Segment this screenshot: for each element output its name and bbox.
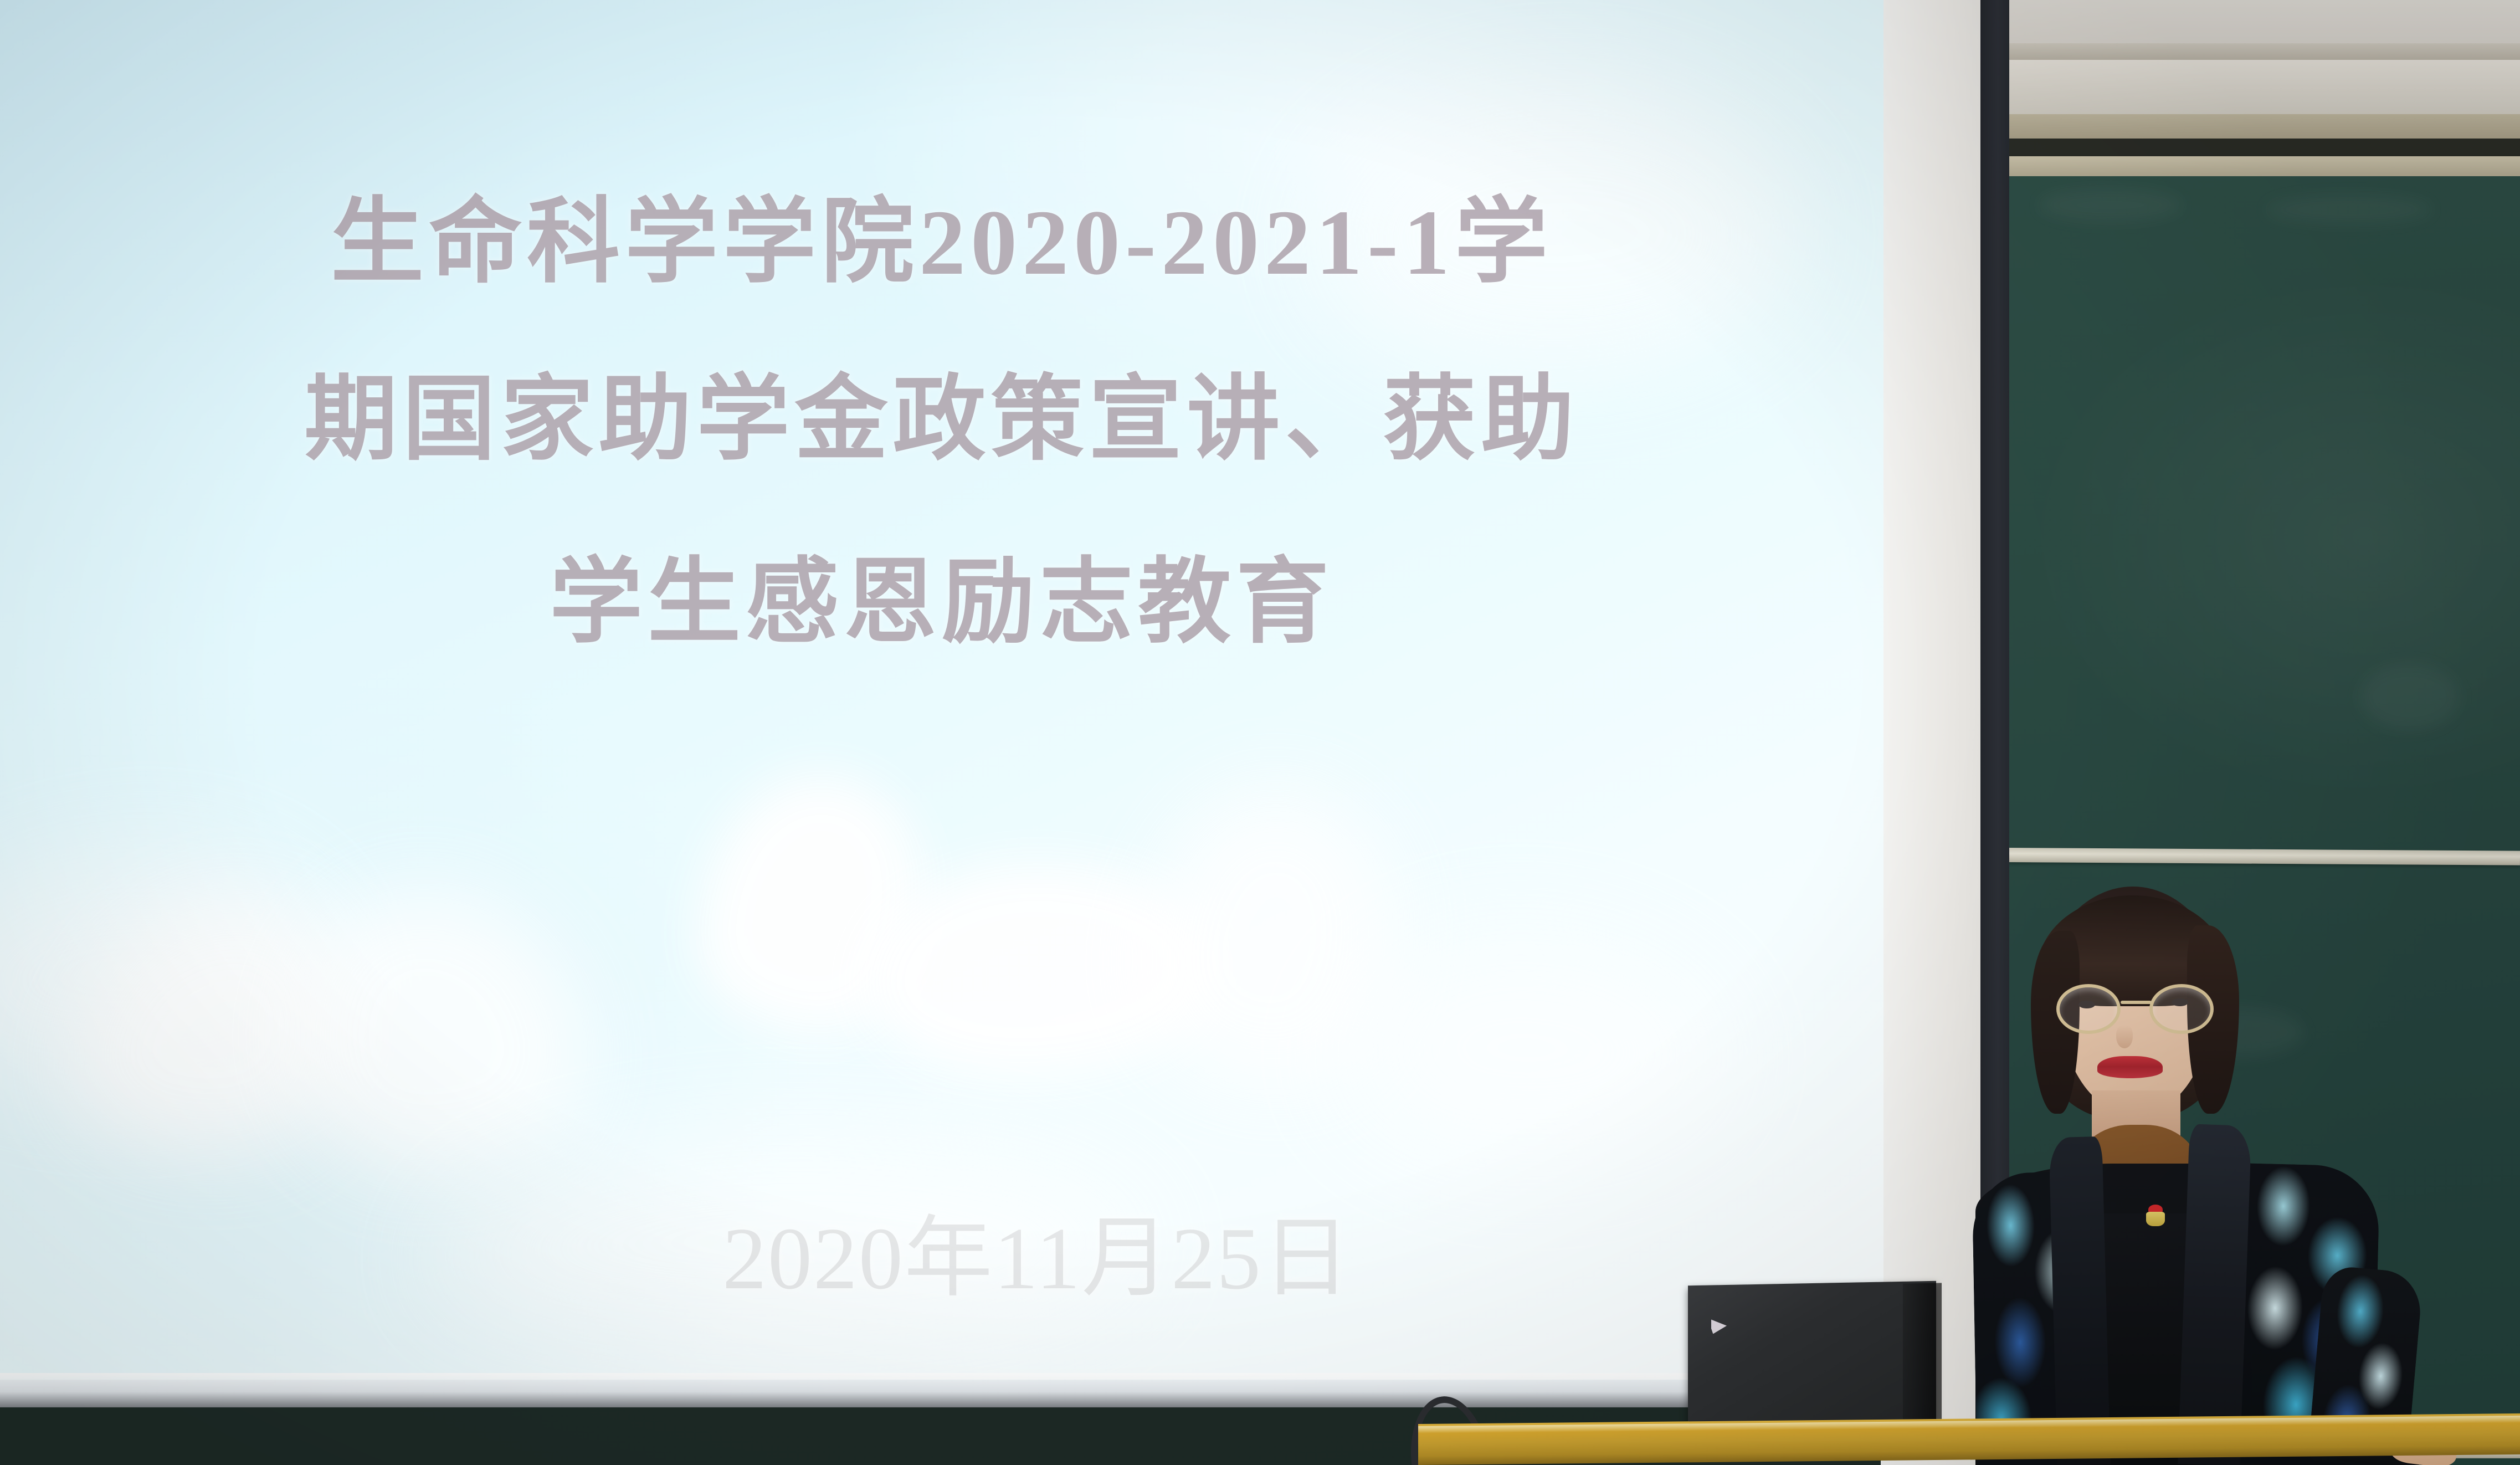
podium [1418,1414,2520,1465]
presenter-figure [1928,887,2520,1465]
glasses-bridge [2121,1001,2152,1004]
glasses-lens-left [2056,984,2121,1034]
slide-title-line-1: 生命科学学院2020-2021-1学 [0,166,1883,301]
laptop-shadow [1903,1283,1942,1426]
lapel-pin-icon [2146,1205,2165,1227]
glasses-lens-right [2149,984,2214,1034]
laptop-lid[interactable] [1688,1281,1936,1429]
nose [2116,1025,2133,1048]
laptop[interactable] [1688,1283,1943,1434]
projection-screen: 生命科学学院2020-2021-1学 期国家助学金政策宣讲、获助 学生感恩励志教… [0,0,1883,1407]
molding-shadow-line [2005,139,2520,157]
screen-bottom-edge [0,1380,1883,1407]
chalk-smudge [2039,188,2183,222]
chalk-smudge [2360,664,2460,730]
laptop-logo-icon [1711,1319,1727,1334]
slide-title-line-3: 学生感恩励志教育 [0,526,1883,661]
lapel-pin-base [2146,1212,2165,1226]
ceiling-molding-mid [2005,60,2520,114]
ceiling-molding-upper [2005,43,2520,60]
blackboard-top-trim [2005,156,2520,177]
slide-date: 2020年11月25日 [0,1186,1352,1314]
glasses-icon [2054,984,2220,1035]
slide-title-line-2: 期国家助学金政策宣讲、获助 [0,344,1883,478]
mouth [2097,1056,2163,1078]
chalk-smudge [2266,195,2432,224]
lecture-hall-photo: 生命科学学院2020-2021-1学 期国家助学金政策宣讲、获助 学生感恩励志教… [0,0,2520,1465]
slide-content: 生命科学学院2020-2021-1学 期国家助学金政策宣讲、获助 学生感恩励志教… [0,0,1883,1407]
